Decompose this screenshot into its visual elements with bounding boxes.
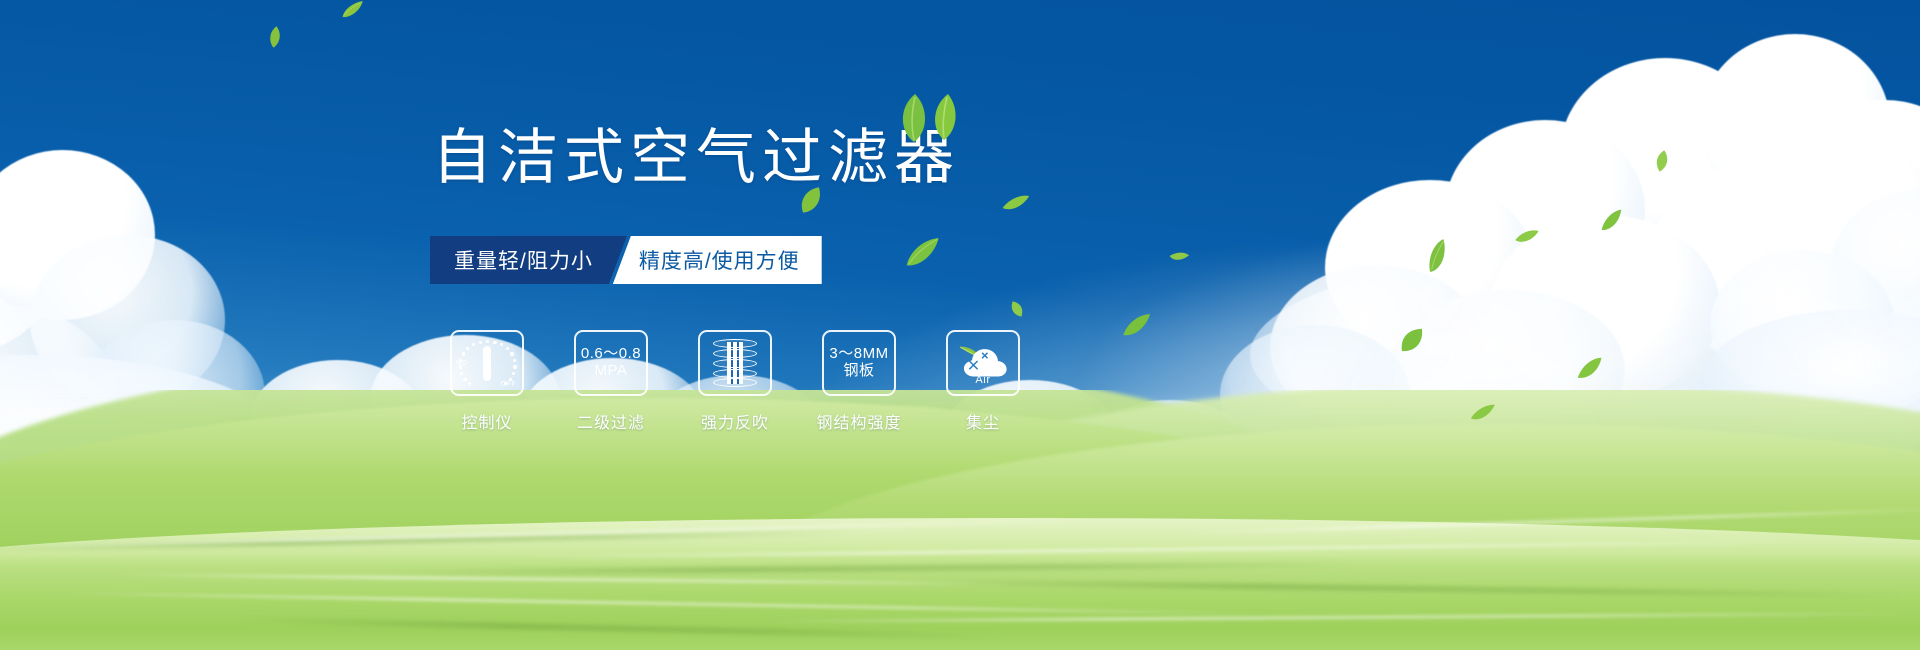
air-label: Air	[955, 374, 1011, 386]
title-leaves-icon	[888, 92, 966, 144]
hero-banner: 自洁式空气过滤器 重量轻/阻力小 精度高/使用方便	[0, 0, 1920, 650]
pressure-value-line1: 0.6～0.8	[581, 346, 641, 363]
feature-caption: 强力反吹	[701, 409, 769, 433]
feature-caption: 控制仪	[461, 409, 512, 433]
pressure-value-line2: MPA	[595, 363, 628, 380]
filter-cartridge-icon	[709, 338, 761, 388]
feature-icon-box	[698, 330, 772, 396]
feature-icon-box: Air	[946, 330, 1020, 396]
feature-item-steel[interactable]: 3～8MM 钢板 钢结构强度	[810, 330, 908, 433]
feature-item-pressure[interactable]: 0.6～0.8 MPA 二级过滤	[562, 330, 660, 433]
feature-caption: 钢结构强度	[816, 409, 901, 433]
feature-item-backblow[interactable]: 强力反吹	[686, 330, 784, 433]
tagline-badge: 重量轻/阻力小 精度高/使用方便	[430, 236, 822, 284]
page-title: 自洁式空气过滤器	[432, 128, 960, 188]
steel-spec-line1: 3～8MM	[829, 346, 888, 363]
control-dial-icon: NO OFF	[457, 337, 517, 389]
feature-item-controller[interactable]: NO OFF	[438, 330, 536, 433]
title-block: 自洁式空气过滤器	[432, 128, 960, 188]
air-cloud-icon: Air	[955, 341, 1011, 385]
feature-caption: 集尘	[966, 409, 1000, 433]
tagline-badge-left: 重量轻/阻力小	[430, 236, 627, 284]
feature-icon-box: NO OFF	[450, 330, 524, 396]
tagline-badge-right: 精度高/使用方便	[613, 236, 822, 284]
dial-off-label: OFF	[501, 381, 516, 388]
banner-content: 自洁式空气过滤器 重量轻/阻力小 精度高/使用方便	[0, 0, 1920, 650]
feature-caption: 二级过滤	[577, 409, 645, 433]
feature-item-dust[interactable]: Air 集尘	[934, 330, 1032, 433]
feature-icon-box: 0.6～0.8 MPA	[574, 330, 648, 396]
steel-spec-line2: 钢板	[843, 363, 874, 380]
feature-list: NO OFF	[438, 330, 1032, 433]
feature-icon-box: 3～8MM 钢板	[822, 330, 896, 396]
